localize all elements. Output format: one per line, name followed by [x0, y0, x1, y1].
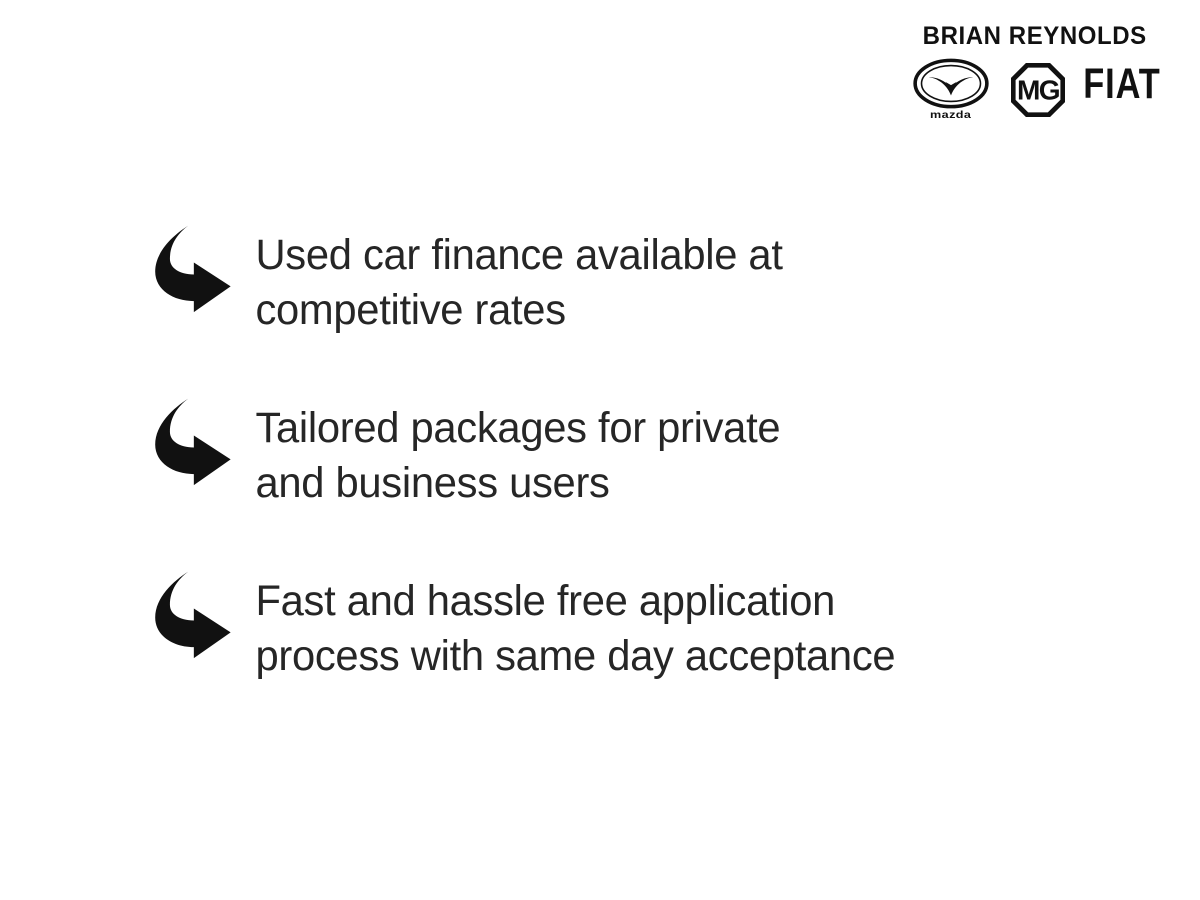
- brand-block: BRIAN REYNOLDS mazda MG: [900, 24, 1170, 122]
- svg-text:MG: MG: [1017, 75, 1060, 106]
- bullet-item: Fast and hassle free application process…: [146, 566, 1106, 684]
- fiat-logo: FIAT: [1083, 58, 1161, 104]
- dealer-name: BRIAN REYNOLDS: [923, 24, 1147, 49]
- mazda-wordmark: mazda: [930, 110, 971, 120]
- mg-logo: MG: [1007, 58, 1069, 117]
- promo-slide: BRIAN REYNOLDS mazda MG: [0, 0, 1200, 900]
- mg-emblem-icon: MG: [1011, 63, 1065, 117]
- curved-arrow-icon: [146, 395, 238, 487]
- curved-arrow-icon: [146, 222, 238, 314]
- mazda-logo: mazda: [909, 58, 993, 122]
- bullet-text: Fast and hassle free application process…: [238, 566, 1080, 684]
- logo-row: mazda MG FIAT: [909, 58, 1161, 122]
- mazda-emblem-icon: [911, 58, 991, 109]
- bullet-text: Tailored packages for private and busine…: [238, 393, 1080, 511]
- bullet-text: Used car finance available at competitiv…: [238, 220, 1080, 338]
- bullet-item: Tailored packages for private and busine…: [146, 393, 1106, 511]
- curved-arrow-icon: [146, 568, 238, 660]
- bullet-item: Used car finance available at competitiv…: [146, 220, 1106, 338]
- bullet-list: Used car finance available at competitiv…: [146, 220, 1106, 684]
- fiat-wordmark: FIAT: [1083, 63, 1160, 105]
